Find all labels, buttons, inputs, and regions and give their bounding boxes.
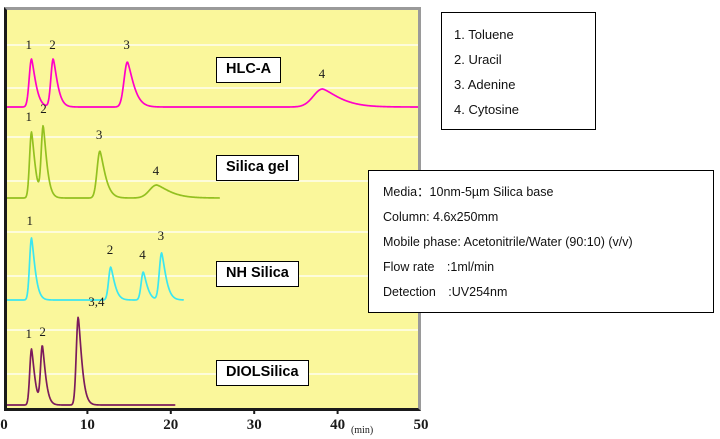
- x-tick-40: 40: [330, 417, 345, 434]
- trace-nh-silica: [7, 238, 183, 300]
- x-tick-50: 50: [414, 417, 429, 434]
- peak-label-1: 1: [26, 110, 33, 123]
- peak-label-3-4: 3,4: [88, 295, 104, 308]
- peak-label-2: 2: [39, 325, 46, 338]
- peak-label-1: 1: [26, 38, 33, 51]
- trace-diolsilica: [7, 317, 175, 405]
- legend-item: 2. Uracil: [454, 47, 595, 72]
- peak-label-1: 1: [26, 327, 33, 340]
- trace-label-diolsilica: DIOLSilica: [216, 360, 309, 386]
- peak-label-3: 3: [96, 128, 103, 141]
- chromatogram-plot-area: 123412341243123,4HLC-ASilica gelNH Silic…: [4, 7, 421, 411]
- peak-label-4: 4: [139, 248, 146, 261]
- peak-label-2: 2: [49, 38, 56, 51]
- condition-detection: Detection :UV254nm: [383, 280, 713, 305]
- peak-label-3: 3: [158, 229, 165, 242]
- legend-item: 4. Cytosine: [454, 97, 595, 122]
- trace-label-nh-silica: NH Silica: [216, 261, 299, 287]
- peak-label-2: 2: [40, 102, 47, 115]
- x-axis-unit-label: (min): [351, 425, 373, 436]
- analysis-conditions-panel: Media：10nm-5µm Silica base Column: 4.6x2…: [368, 170, 714, 313]
- peak-label-3: 3: [123, 38, 130, 51]
- legend-item: 3. Adenine: [454, 72, 595, 97]
- trace-label-hlc-a: HLC-A: [216, 57, 281, 83]
- trace-label-silica-gel: Silica gel: [216, 155, 299, 181]
- condition-mobile-phase: Mobile phase: Acetonitrile/Water (90:10)…: [383, 230, 713, 255]
- figure-root: 123412341243123,4HLC-ASilica gelNH Silic…: [0, 0, 720, 439]
- peak-label-4: 4: [319, 67, 326, 80]
- peak-label-2: 2: [107, 243, 114, 256]
- trace-hlc-a: [7, 59, 418, 107]
- x-tick-20: 20: [163, 417, 178, 434]
- x-tick-30: 30: [247, 417, 262, 434]
- chromatogram-traces: [7, 10, 418, 408]
- peak-label-1: 1: [27, 214, 34, 227]
- trace-silica-gel: [7, 126, 219, 198]
- peak-label-4: 4: [153, 164, 160, 177]
- legend-item: 1. Toluene: [454, 22, 595, 47]
- condition-media: Media：10nm-5µm Silica base: [383, 180, 713, 205]
- condition-flow-rate: Flow rate :1ml/min: [383, 255, 713, 280]
- x-tick-0: 0: [0, 417, 8, 434]
- condition-column: Column: 4.6x250mm: [383, 205, 713, 230]
- sample-components-legend: 1. Toluene 2. Uracil 3. Adenine 4. Cytos…: [441, 12, 596, 130]
- x-tick-10: 10: [80, 417, 95, 434]
